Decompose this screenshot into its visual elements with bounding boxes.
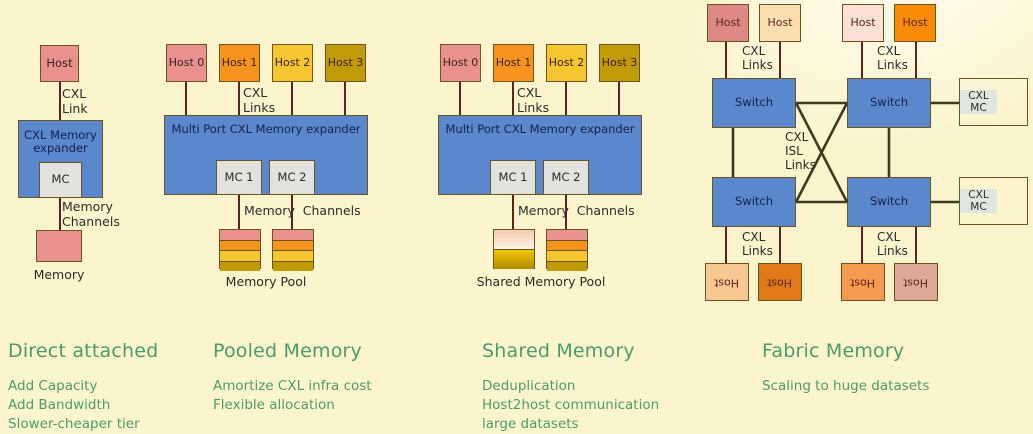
cxl-links-label: CXL Links (742, 44, 802, 72)
memory-channels-label: Memory Channels (62, 200, 142, 230)
host-label: Host (714, 276, 739, 289)
cxl-mc-module[interactable]: CXL MC (959, 78, 1028, 126)
memory-channels-label: Memory Channels (244, 204, 354, 219)
cxl-links-label: CXL Links (517, 86, 577, 116)
shared-memory-pool-caption: Shared Memory Pool (466, 275, 616, 290)
switch-box[interactable]: Switch (712, 177, 796, 227)
switch-box[interactable]: Switch (847, 177, 931, 227)
cxl-mc-label: CXL MC (960, 189, 997, 213)
memory-caption: Memory (14, 268, 104, 283)
host-label: Host (850, 276, 875, 289)
mc-box[interactable]: MC 1 (490, 160, 536, 195)
host-label: Host (903, 276, 928, 289)
host-box[interactable]: Host 3 (599, 44, 640, 82)
section-bullets-pooled-memory: Amortize CXL infra cost Flexible allocat… (213, 377, 372, 415)
host-box[interactable]: Host (841, 263, 885, 301)
cxl-link-line (861, 227, 863, 263)
cxl-link-line (618, 82, 620, 115)
host-box[interactable]: Host 0 (440, 44, 481, 82)
section-title-fabric-memory: Fabric Memory (762, 340, 904, 362)
memory-box[interactable] (36, 230, 82, 262)
cxl-mc-label: CXL MC (960, 90, 997, 114)
cxl-links-label: CXL Links (243, 86, 303, 116)
memory-pool-block[interactable] (219, 229, 261, 269)
host-box[interactable]: Host 1 (493, 44, 534, 82)
memory-channel-line (59, 198, 61, 230)
host-box[interactable]: Host 2 (272, 44, 313, 82)
memory-channel-line (238, 195, 240, 229)
cxl-link-line (238, 82, 240, 115)
cxl-link-line (344, 82, 346, 115)
shared-memory-block[interactable] (493, 229, 535, 269)
mc-box[interactable]: MC 1 (216, 160, 262, 195)
cxl-link-line (512, 82, 514, 115)
host-box[interactable]: Host 3 (325, 44, 366, 82)
host-label: Host (767, 276, 792, 289)
cxl-link-line (725, 227, 727, 263)
memory-channel-line (512, 195, 514, 229)
cxl-link-line (59, 82, 61, 120)
section-title-pooled-memory: Pooled Memory (213, 340, 362, 362)
section-title-shared-memory: Shared Memory (482, 340, 635, 362)
cxl-mc-module[interactable]: CXL MC (959, 177, 1028, 225)
mc-box[interactable]: MC (39, 162, 82, 198)
shared-memory-block[interactable] (546, 229, 588, 269)
host-box[interactable]: Host 1 (219, 44, 260, 82)
mc-box[interactable]: MC 2 (269, 160, 315, 195)
host-box[interactable]: Host (705, 263, 749, 301)
multiport-expander-box[interactable]: Multi Port CXL Memory expander (164, 115, 368, 195)
multiport-expander-box[interactable]: Multi Port CXL Memory expander (438, 115, 642, 195)
host-box[interactable]: Host (707, 4, 749, 42)
cxl-links-label: CXL Links (877, 44, 937, 72)
switch-box[interactable]: Switch (712, 78, 796, 128)
cxl-link-line (459, 82, 461, 115)
cxl-links-label: CXL Links (742, 230, 802, 258)
host-box[interactable]: Host (40, 45, 79, 82)
mc-box[interactable]: MC 2 (543, 160, 589, 195)
memory-pool-block[interactable] (272, 229, 314, 269)
memory-pool-caption: Memory Pool (206, 275, 326, 290)
host-box[interactable]: Host 2 (546, 44, 587, 82)
diagram-canvas: Host CXL Link CXL Memory expander MC Mem… (0, 0, 1033, 428)
cxl-link-line (725, 42, 727, 78)
section-bullets-shared-memory: Deduplication Host2host communication la… (482, 377, 659, 434)
cxl-link-line (185, 82, 187, 115)
cxl-links-label: CXL Links (877, 230, 937, 258)
section-bullets-direct-attached: Add Capacity Add Bandwidth Slower-cheape… (8, 377, 140, 434)
host-box[interactable]: Host (894, 4, 936, 42)
host-box[interactable]: Host 0 (166, 44, 207, 82)
section-title-direct-attached: Direct attached (8, 340, 158, 362)
switch-box[interactable]: Switch (847, 78, 931, 128)
host-box[interactable]: Host (759, 4, 801, 42)
host-box[interactable]: Host (758, 263, 802, 301)
host-box[interactable]: Host (842, 4, 884, 42)
section-bullets-fabric-memory: Scaling to huge datasets (762, 377, 929, 396)
memory-channels-label: Memory Channels (518, 204, 628, 219)
cxl-link-label: CXL Link (62, 87, 122, 117)
cxl-isl-links-label: CXL ISL Links (785, 130, 835, 172)
cxl-link-line (861, 42, 863, 78)
host-box[interactable]: Host (894, 263, 938, 301)
